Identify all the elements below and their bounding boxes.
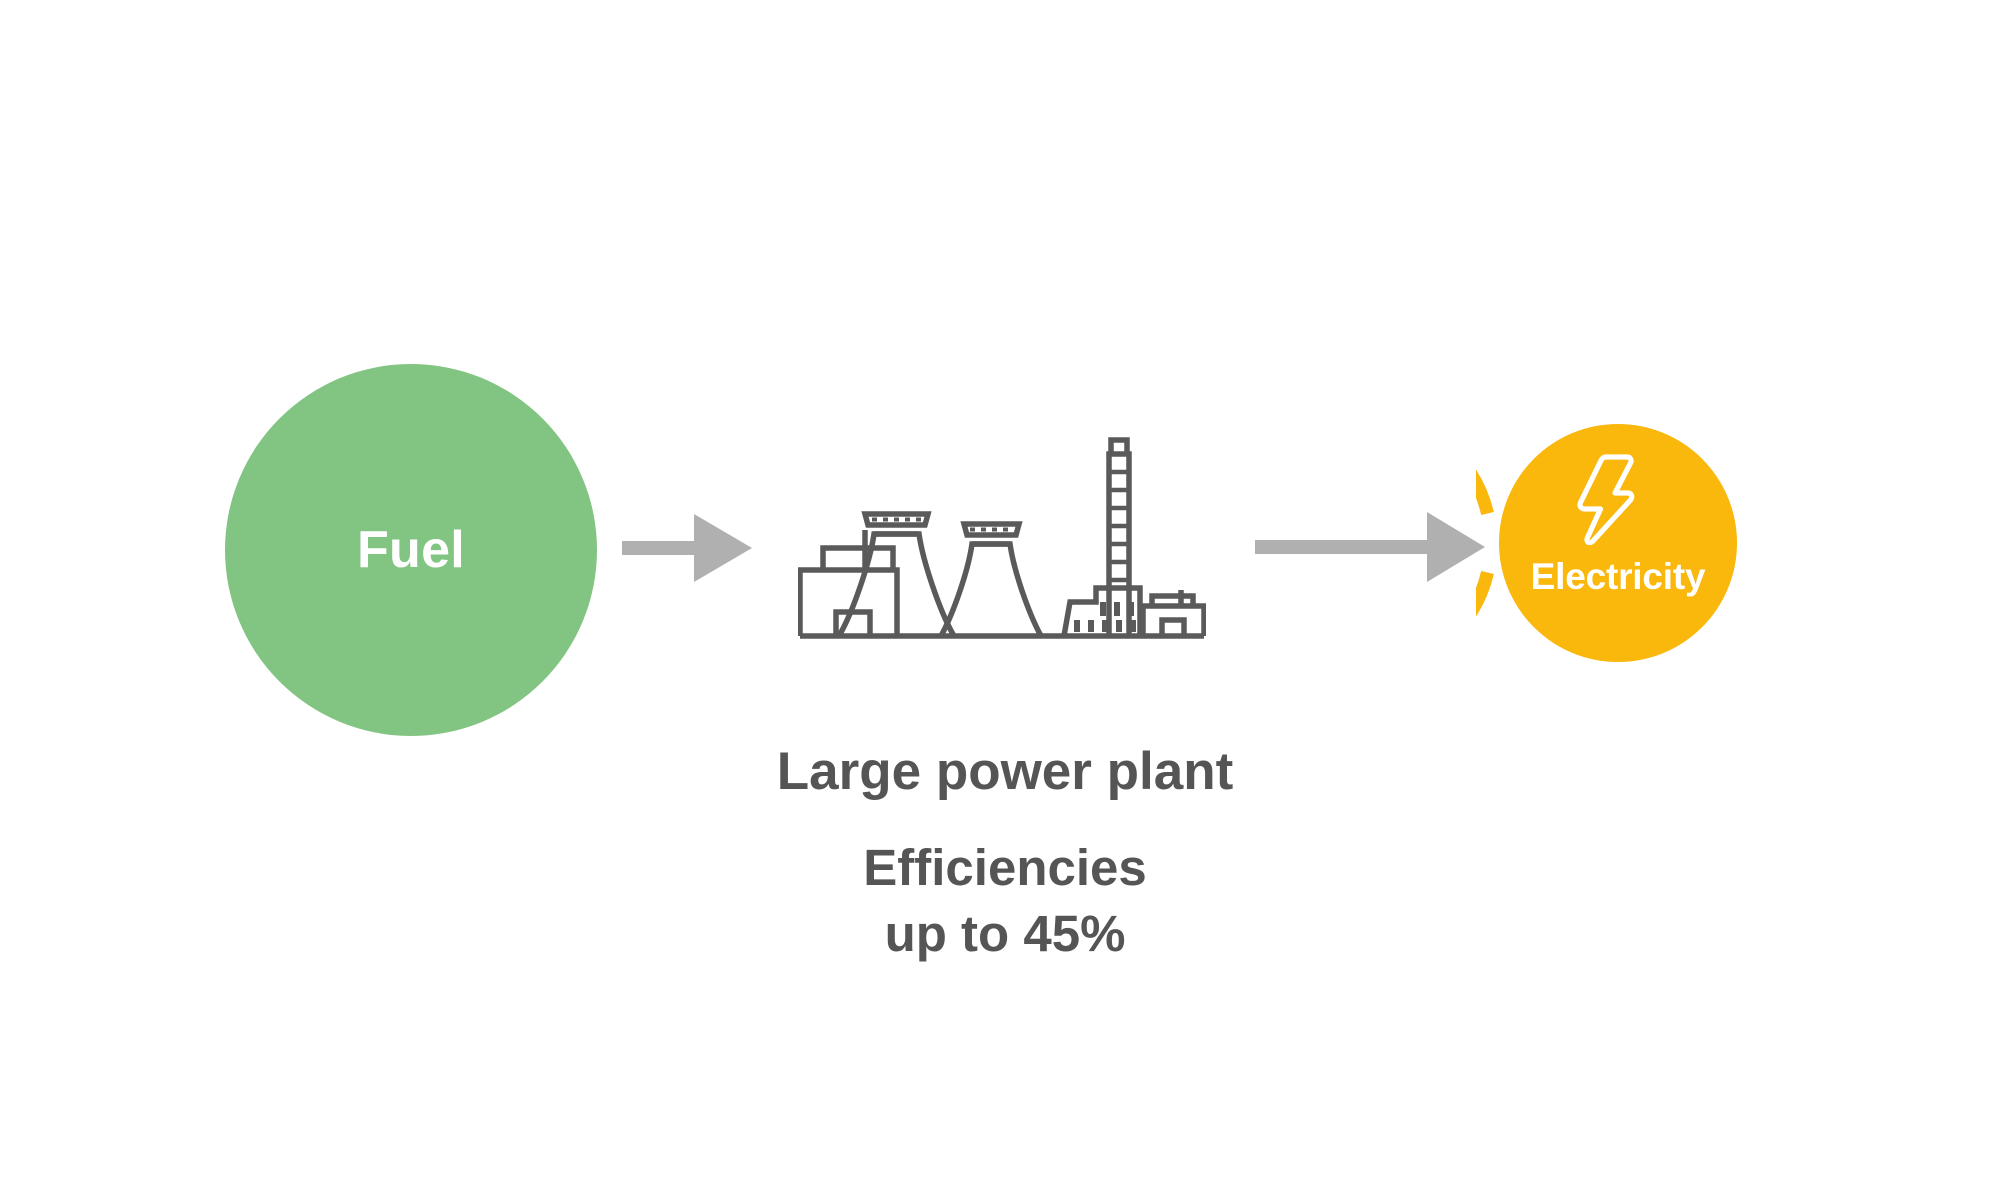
plant-caption-title: Large power plant	[700, 742, 1310, 801]
diagram-canvas: Fuel	[0, 0, 2000, 1179]
plant-caption-efficiency-line-1: Efficiencies	[700, 835, 1310, 900]
fuel-node-label: Fuel	[357, 524, 465, 576]
electricity-node[interactable]: Electricity	[1476, 401, 1760, 685]
fuel-node[interactable]: Fuel	[225, 364, 597, 736]
plant-caption-efficiency-line-2: up to 45%	[700, 901, 1310, 966]
plant-caption: Large power plant Efficiencies up to 45%	[700, 742, 1310, 966]
arrow-right-icon-plant-to-electricity	[1255, 512, 1485, 582]
lightning-bolt-icon	[1575, 453, 1635, 545]
electricity-node-label: Electricity	[1476, 558, 1760, 595]
plant-caption-efficiency: Efficiencies up to 45%	[700, 835, 1310, 966]
arrow-right-icon-fuel-to-plant	[622, 514, 752, 582]
power-plant-icon	[798, 422, 1206, 667]
